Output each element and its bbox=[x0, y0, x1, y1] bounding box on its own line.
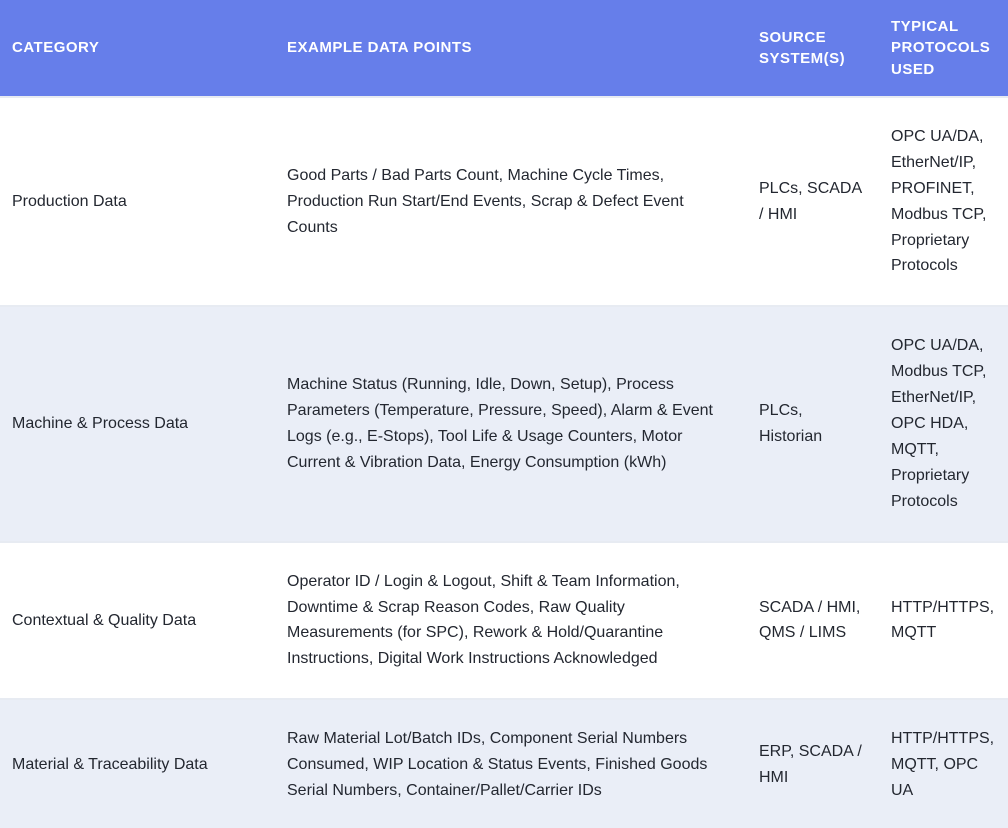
cell-category: Production Data bbox=[0, 97, 271, 306]
table-row: Material & Traceability Data Raw Materia… bbox=[0, 699, 1008, 828]
data-table-container: Category Example Data Points Source Syst… bbox=[0, 0, 1008, 828]
cell-category: Contextual & Quality Data bbox=[0, 542, 271, 700]
table-row: Machine & Process Data Machine Status (R… bbox=[0, 306, 1008, 541]
cell-typical-protocols: OPC UA/DA, EtherNet/IP, PROFINET, Modbus… bbox=[877, 97, 1008, 306]
cell-example-data-points: Machine Status (Running, Idle, Down, Set… bbox=[271, 306, 745, 541]
cell-source-systems: SCADA / HMI, QMS / LIMS bbox=[745, 542, 877, 700]
table-header: Category Example Data Points Source Syst… bbox=[0, 0, 1008, 97]
cell-source-systems: ERP, SCADA / HMI bbox=[745, 699, 877, 828]
table-body: Production Data Good Parts / Bad Parts C… bbox=[0, 97, 1008, 828]
cell-example-data-points: Operator ID / Login & Logout, Shift & Te… bbox=[271, 542, 745, 700]
cell-typical-protocols: HTTP/HTTPS, MQTT, OPC UA bbox=[877, 699, 1008, 828]
cell-typical-protocols: OPC UA/DA, Modbus TCP, EtherNet/IP, OPC … bbox=[877, 306, 1008, 541]
shop-floor-data-categories-table: Category Example Data Points Source Syst… bbox=[0, 0, 1008, 828]
cell-source-systems: PLCs, SCADA / HMI bbox=[745, 97, 877, 306]
column-header-typical-protocols-used: Typical Protocols Used bbox=[877, 0, 1008, 97]
column-header-source-systems: Source System(s) bbox=[745, 0, 877, 97]
column-header-category: Category bbox=[0, 0, 271, 97]
cell-typical-protocols: HTTP/HTTPS, MQTT bbox=[877, 542, 1008, 700]
column-header-example-data-points: Example Data Points bbox=[271, 0, 745, 97]
cell-example-data-points: Raw Material Lot/Batch IDs, Component Se… bbox=[271, 699, 745, 828]
cell-category: Material & Traceability Data bbox=[0, 699, 271, 828]
table-header-row: Category Example Data Points Source Syst… bbox=[0, 0, 1008, 97]
cell-category: Machine & Process Data bbox=[0, 306, 271, 541]
cell-source-systems: PLCs, Historian bbox=[745, 306, 877, 541]
table-row: Production Data Good Parts / Bad Parts C… bbox=[0, 97, 1008, 306]
cell-example-data-points: Good Parts / Bad Parts Count, Machine Cy… bbox=[271, 97, 745, 306]
table-row: Contextual & Quality Data Operator ID / … bbox=[0, 542, 1008, 700]
